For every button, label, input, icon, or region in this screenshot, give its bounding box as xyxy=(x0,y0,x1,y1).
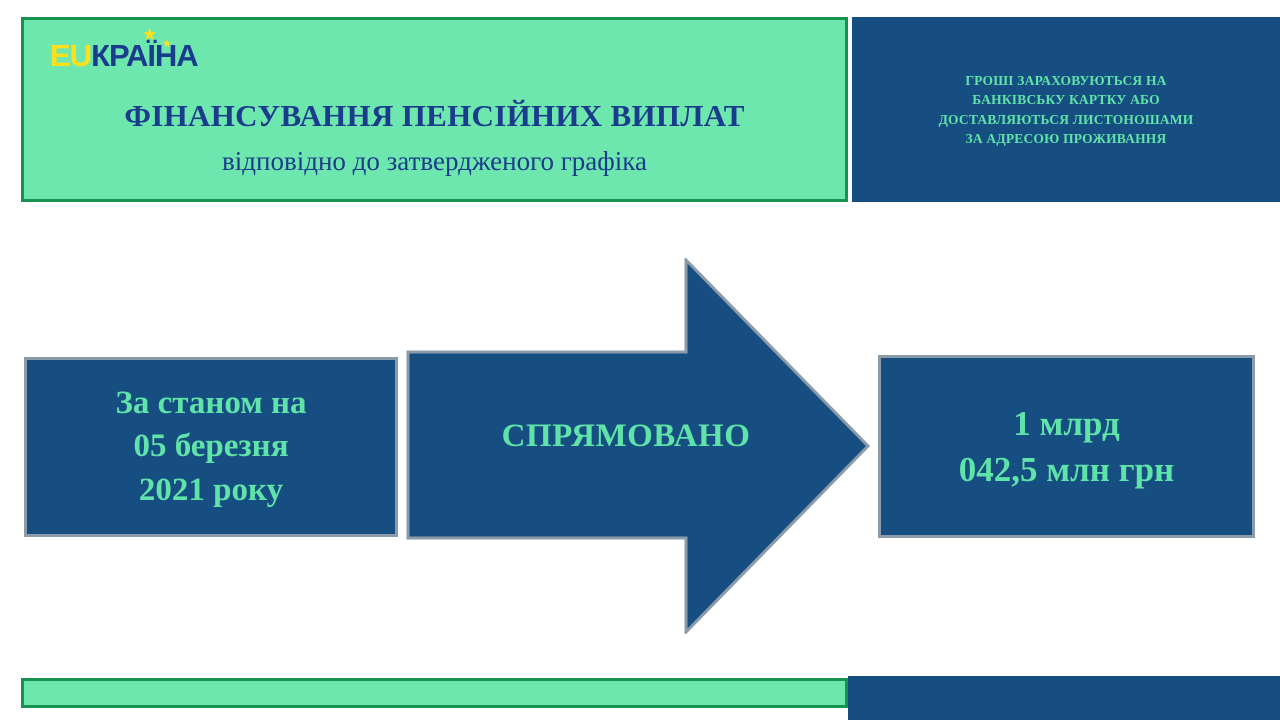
delivery-note-line: БАНКІВСЬКУ КАРТКУ АБО xyxy=(939,90,1194,109)
right-arrow-icon xyxy=(406,258,870,634)
page-title: ФІНАНСУВАННЯ ПЕНСІЙНИХ ВИПЛАТ xyxy=(24,98,845,134)
amount-line: 042,5 млн грн xyxy=(959,447,1174,493)
date-line: 2021 року xyxy=(115,469,306,513)
date-box: За станом на 05 березня 2021 року xyxy=(24,357,398,537)
page-subtitle: відповідно до затвердженого графіка xyxy=(24,146,845,177)
brand-logo: EUКРАЇНА ★ ★ xyxy=(50,31,198,71)
delivery-note-text: ГРОШІ ЗАРАХОВУЮТЬСЯ НА БАНКІВСЬКУ КАРТКУ… xyxy=(925,71,1208,148)
star-icon-large: ★ xyxy=(142,26,157,43)
amount-box: 1 млрд 042,5 млн грн xyxy=(878,355,1255,538)
date-line: За станом на xyxy=(115,382,306,426)
date-box-text: За станом на 05 березня 2021 року xyxy=(115,382,306,513)
star-icon-small: ★ xyxy=(162,39,172,50)
date-line: 05 березня xyxy=(115,425,306,469)
delivery-note-line: ГРОШІ ЗАРАХОВУЮТЬСЯ НА xyxy=(939,71,1194,90)
amount-box-text: 1 млрд 042,5 млн грн xyxy=(959,401,1174,492)
header-green-panel: EUКРАЇНА ★ ★ ФІНАНСУВАННЯ ПЕНСІЙНИХ ВИПЛ… xyxy=(21,17,848,202)
logo-ukraina-text: КРАЇНА xyxy=(91,40,198,71)
delivery-note-line: ДОСТАВЛЯЮТЬСЯ ЛИСТОНОШАМИ xyxy=(939,110,1194,129)
amount-line: 1 млрд xyxy=(959,401,1174,447)
delivery-note-line: ЗА АДРЕСОЮ ПРОЖИВАННЯ xyxy=(939,129,1194,148)
footer-green-bar xyxy=(21,678,848,708)
footer-blue-bar xyxy=(848,676,1280,720)
logo-eu-text: EU xyxy=(50,40,91,71)
delivery-note-panel: ГРОШІ ЗАРАХОВУЮТЬСЯ НА БАНКІВСЬКУ КАРТКУ… xyxy=(852,17,1280,202)
